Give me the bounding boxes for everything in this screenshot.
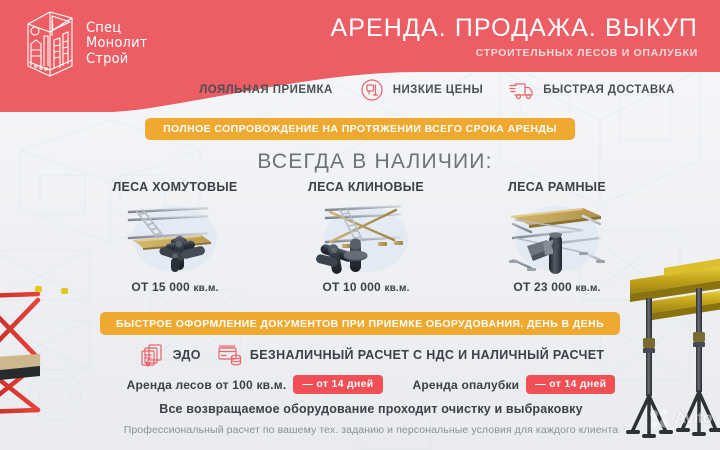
edo-documents-icon — [140, 343, 166, 367]
logo-line-2: Монолит — [86, 36, 148, 51]
term-scaffolding-rental: Аренда лесов от 100 кв.м. — от 14 дней — [127, 375, 383, 394]
product-price: ОТ 15 000 кв.м. — [86, 280, 264, 294]
headline-block: АРЕНДА. ПРОДАЖА. ВЫКУП СТРОИТЕЛЬНЫХ ЛЕСО… — [330, 16, 698, 59]
handshake-heart-icon — [165, 78, 191, 102]
company-logo[interactable]: Спец Монолит Строй — [22, 10, 148, 78]
logo-line-3: Строй — [86, 52, 148, 67]
clamp-scaffolding-icon — [115, 198, 235, 278]
product-image — [86, 198, 264, 278]
avito-watermark: Avito — [649, 408, 712, 430]
watermark-text: Avito — [675, 410, 712, 428]
product-price: ОТ 10 000 кв.м. — [277, 280, 455, 294]
professional-note: Профессиональный расчет по вашему тех. з… — [0, 424, 720, 436]
term-badge: — от 14 дней — [293, 375, 382, 394]
feature-label: НИЗКИЕ ЦЕНЫ — [393, 84, 484, 96]
term-badge: — от 14 дней — [526, 375, 615, 394]
logo-line-1: Спец — [86, 21, 148, 36]
low-price-tag-icon — [359, 78, 385, 102]
term-label: Аренда лесов от 100 кв.м. — [127, 378, 287, 392]
payment-edo: ЭДО — [140, 343, 201, 367]
price-unit: кв.м. — [575, 283, 600, 294]
product-price: ОТ 23 000 кв.м. — [468, 280, 646, 294]
product-title: ЛЕСА КЛИНОВЫЕ — [277, 180, 455, 194]
product-clamp-scaffolding: ЛЕСА ХОМУТОВЫЕ — [86, 180, 264, 294]
term-label: Аренда опалубки — [413, 378, 520, 392]
product-title: ЛЕСА РАМНЫЕ — [468, 180, 646, 194]
stock-title: ВСЕГДА В НАЛИЧИИ: — [0, 150, 720, 174]
banner-fast-documents: БЫСТРОЕ ОФОРМЛЕНИЕ ДОКУМЕНТОВ ПРИ ПРИЕМК… — [100, 312, 620, 335]
advertisement-banner: Спец Монолит Строй АРЕНДА. ПРОДАЖА. ВЫКУ… — [0, 0, 720, 450]
feature-loyal-acceptance: ЛОЯЛЬНАЯ ПРИЕМКА — [165, 78, 333, 102]
building-crane-line-icon — [22, 10, 78, 78]
price-value: ОТ 15 000 — [131, 280, 190, 294]
card-cash-icon — [217, 343, 243, 367]
avito-logo-icon — [649, 408, 671, 430]
frame-scaffolding-icon — [497, 198, 617, 278]
products-row: ЛЕСА ХОМУТОВЫЕ — [86, 180, 646, 294]
sub-headline: СТРОИТЕЛЬНЫХ ЛЕСОВ И ОПАЛУБКИ — [330, 47, 698, 59]
price-value: ОТ 23 000 — [513, 280, 572, 294]
cleaning-note: Все возвращаемое оборудование проходит о… — [0, 402, 720, 416]
feature-fast-delivery: БЫСТРАЯ ДОСТАВКА — [509, 78, 675, 102]
banner-full-support: ПОЛНОЕ СОПРОВОЖДЕНИЕ НА ПРОТЯЖЕНИИ ВСЕГО… — [145, 118, 575, 140]
product-frame-scaffolding: ЛЕСА РАМНЫЕ — [468, 180, 646, 294]
feature-label: ЛОЯЛЬНАЯ ПРИЕМКА — [199, 84, 333, 96]
price-unit: кв.м. — [384, 283, 409, 294]
product-wedge-scaffolding: ЛЕСА КЛИНОВЫЕ — [277, 180, 455, 294]
product-image — [468, 198, 646, 278]
feature-low-prices: НИЗКИЕ ЦЕНЫ — [359, 78, 484, 102]
features-row: ЛОЯЛЬНАЯ ПРИЕМКА НИЗКИЕ ЦЕНЫ — [0, 78, 720, 102]
wedge-scaffolding-icon — [306, 198, 426, 278]
terms-row: Аренда лесов от 100 кв.м. — от 14 дней А… — [0, 375, 720, 394]
price-value: ОТ 10 000 — [322, 280, 381, 294]
product-title: ЛЕСА ХОМУТОВЫЕ — [86, 180, 264, 194]
payment-cashless-cash: БЕЗНАЛИЧНЫЙ РАСЧЕТ С НДС И НАЛИЧНЫЙ РАСЧ… — [217, 343, 605, 367]
main-headline: АРЕНДА. ПРОДАЖА. ВЫКУП — [330, 16, 698, 41]
payment-row: ЭДО БЕЗНАЛИЧНЫЙ РАСЧЕТ С НДС И НАЛИЧНЫЙ … — [0, 343, 720, 367]
payment-label: ЭДО — [173, 348, 201, 362]
product-image — [277, 198, 455, 278]
price-unit: кв.м. — [193, 283, 218, 294]
logo-wordmark: Спец Монолит Строй — [86, 21, 148, 67]
delivery-truck-icon — [509, 78, 535, 102]
payment-label: БЕЗНАЛИЧНЫЙ РАСЧЕТ С НДС И НАЛИЧНЫЙ РАСЧ… — [250, 348, 605, 362]
feature-label: БЫСТРАЯ ДОСТАВКА — [543, 84, 675, 96]
term-formwork-rental: Аренда опалубки — от 14 дней — [413, 375, 616, 394]
